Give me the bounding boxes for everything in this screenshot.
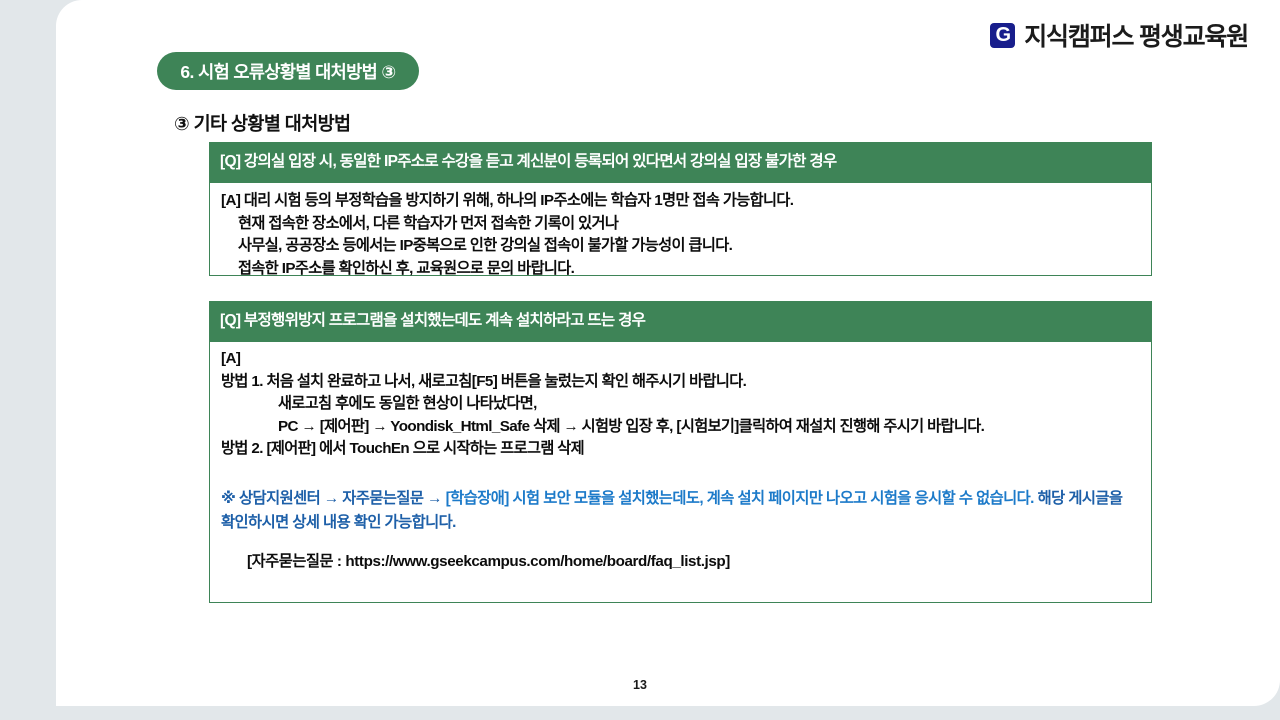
page-number: 13 <box>0 678 1280 692</box>
section-title-label: 6. 시험 오류상황별 대처방법 ③ <box>180 59 395 84</box>
qa-block-antifraud-program: [Q] 부정행위방지 프로그램을 설치했는데도 계속 설치하라고 뜨는 경우 [… <box>209 301 1152 603</box>
answer-line: [A] 대리 시험 등의 부정학습을 방지하기 위해, 하나의 IP주소에는 학… <box>221 190 1141 213</box>
slide-root: G 지식캠퍼스 평생교육원 6. 시험 오류상황별 대처방법 ③ ③ 기타 상황… <box>0 0 1280 720</box>
spacer <box>221 461 1141 487</box>
answer-line: 방법 2. [제어판] 에서 TouchEn 으로 시작하는 프로그램 삭제 <box>221 438 1141 461</box>
answer-line: 사무실, 공공장소 등에서는 IP중복으로 인한 강의실 접속이 불가할 가능성… <box>221 235 1141 258</box>
answer-line: [A] <box>221 348 1141 371</box>
spacer <box>221 535 1141 549</box>
faq-post-link[interactable]: [학습장애] 시험 보안 모듈을 설치했는데도, 계속 설치 페이지만 나오고 … <box>446 490 1034 507</box>
qa-block-ip-duplicate: [Q] 강의실 입장 시, 동일한 IP주소로 수강을 듣고 계신분이 등록되어… <box>209 142 1152 276</box>
support-center-note: ※ 상담지원센터 → 자주묻는질문 → [학습장애] 시험 보안 모듈을 설치했… <box>221 487 1141 535</box>
section-title-pill: 6. 시험 오류상황별 대처방법 ③ <box>157 52 419 90</box>
answer-body: [A] 대리 시험 등의 부정학습을 방지하기 위해, 하나의 IP주소에는 학… <box>209 183 1152 276</box>
faq-url-line[interactable]: [자주묻는질문 : https://www.gseekcampus.com/ho… <box>221 549 1141 571</box>
answer-line: 현재 접속한 장소에서, 다른 학습자가 먼저 접속한 기록이 있거나 <box>221 213 1141 236</box>
slide-card: G 지식캠퍼스 평생교육원 6. 시험 오류상황별 대처방법 ③ ③ 기타 상황… <box>56 0 1280 706</box>
question-header: [Q] 부정행위방지 프로그램을 설치했는데도 계속 설치하라고 뜨는 경우 <box>209 301 1152 342</box>
gseek-g-icon: G <box>990 23 1015 48</box>
answer-line: 접속한 IP주소를 확인하신 후, 교육원으로 문의 바랍니다. <box>221 258 1141 281</box>
question-header: [Q] 강의실 입장 시, 동일한 IP주소로 수강을 듣고 계신분이 등록되어… <box>209 142 1152 183</box>
page-title: ③ 기타 상황별 대처방법 <box>174 110 350 136</box>
answer-line: 새로고침 후에도 동일한 현상이 나타났다면, <box>221 393 1141 416</box>
answer-line: PC → [제어판] → Yoondisk_Html_Safe 삭제 → 시험방… <box>221 416 1141 439</box>
brand-logo: G 지식캠퍼스 평생교육원 <box>990 17 1248 53</box>
answer-line: 방법 1. 처음 설치 완료하고 나서, 새로고침[F5] 버튼을 눌렀는지 확… <box>221 371 1141 394</box>
note-prefix: ※ 상담지원센터 → 자주묻는질문 → <box>221 490 446 507</box>
answer-body: [A] 방법 1. 처음 설치 완료하고 나서, 새로고침[F5] 버튼을 눌렀… <box>209 342 1152 603</box>
brand-name-label: 지식캠퍼스 평생교육원 <box>1024 17 1248 53</box>
